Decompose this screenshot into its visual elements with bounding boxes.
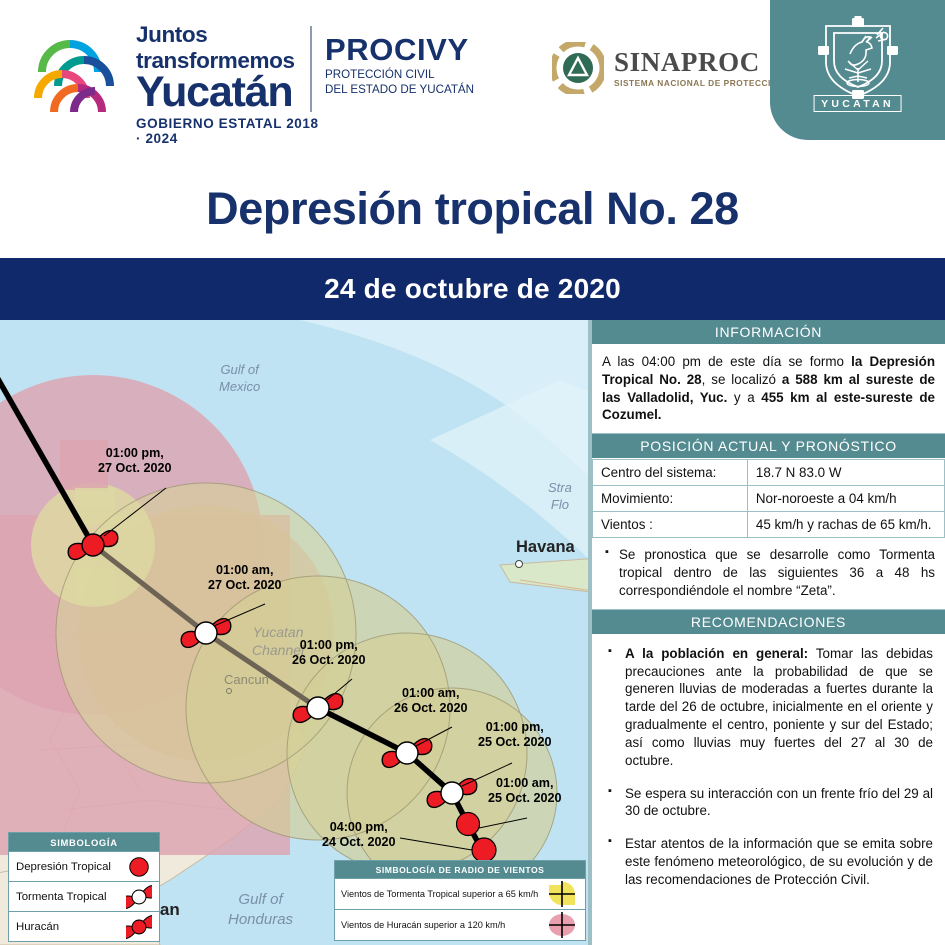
legend-row-tormenta: Tormenta Tropical	[9, 881, 159, 911]
map-label-havana: Havana	[516, 538, 575, 557]
info-panel: INFORMACIÓN A las 04:00 pm de este día s…	[588, 320, 945, 945]
procivy-subtitle: PROTECCIÓN CIVIL DEL ESTADO DE YUCATÁN	[325, 68, 474, 98]
tormenta-tropical-icon	[126, 884, 152, 910]
track-label-26-oct-am: 01:00 am,26 Oct. 2020	[394, 686, 468, 715]
yucatan-seal-word: YUCATAN	[813, 95, 902, 112]
procivy-sub-line1: PROTECCIÓN CIVIL	[325, 68, 474, 83]
radio-vientos-legend: SIMBOLOGÍA DE RADIO DE VIENTOS Vientos d…	[334, 860, 586, 941]
row-value-movimiento: Nor-noroeste a 04 km/h	[747, 486, 944, 512]
date-text: 24 de octubre de 2020	[324, 273, 621, 305]
table-row: Movimiento: Nor-noroeste a 04 km/h	[593, 486, 945, 512]
radio-row-huracan: Vientos de Huracán superior a 120 km/h	[335, 909, 585, 940]
header: Juntos transformemos Yucatán GOBIERNO ES…	[0, 0, 945, 160]
row-label-centro: Centro del sistema:	[593, 460, 748, 486]
sinaproc-emblem-icon	[552, 42, 604, 94]
legend-label-huracan: Huracán	[16, 921, 59, 933]
radio-vientos-header: SIMBOLOGÍA DE RADIO DE VIENTOS	[335, 861, 585, 878]
header-divider	[310, 26, 312, 112]
track-label-24-oct-pm: 04:00 pm,24 Oct. 2020	[322, 820, 396, 849]
city-dot-havana	[515, 560, 523, 568]
legend-row-huracan: Huracán	[9, 911, 159, 941]
huracan-icon	[126, 914, 152, 940]
logo-line-juntos: Juntos transformemos	[136, 22, 328, 74]
map-label-gulf-of-mexico: Gulf ofMexico	[219, 362, 260, 396]
track-label-27-oct-pm: 01:00 pm,27 Oct. 2020	[98, 446, 172, 475]
section-header-informacion: INFORMACIÓN	[592, 320, 945, 345]
infographic-page: Juntos transformemos Yucatán GOBIERNO ES…	[0, 0, 945, 945]
title-band: Depresión tropical No. 28	[0, 160, 945, 258]
radio-row-tormenta: Vientos de Tormenta Tropical superior a …	[335, 878, 585, 909]
simbologia-header: SIMBOLOGÍA	[9, 833, 159, 851]
wind-radius-hu-icon	[545, 911, 579, 939]
legend-label-tormenta: Tormenta Tropical	[16, 891, 107, 903]
informacion-paragraph: A las 04:00 pm de este día se formo la D…	[602, 353, 935, 424]
wind-radius-ts-icon	[545, 880, 579, 908]
city-dot-cancun	[226, 688, 232, 694]
yucatan-seal-panel: YUCATAN	[770, 0, 945, 140]
pronostico-note: Se pronostica que se desarrolle como Tor…	[604, 546, 935, 599]
recomendacion-item: Se espera su interacción con un frente f…	[606, 785, 933, 821]
map-label-gulf-of-honduras: Gulf ofHonduras	[228, 890, 293, 929]
row-label-vientos: Vientos :	[593, 512, 748, 538]
track-label-27-oct-am: 01:00 am,27 Oct. 2020	[208, 563, 282, 592]
procivy-title: PROCIVY	[325, 34, 474, 65]
informacion-body: A las 04:00 pm de este día se formo la D…	[592, 345, 945, 434]
radio-label-tormenta: Vientos de Tormenta Tropical superior a …	[341, 889, 538, 899]
row-value-centro: 18.7 N 83.0 W	[747, 460, 944, 486]
section-header-posicion: POSICIÓN ACTUAL Y PRONÓSTICO	[592, 434, 945, 459]
table-row: Centro del sistema: 18.7 N 83.0 W	[593, 460, 945, 486]
yucatan-logo-text: Juntos transformemos Yucatán GOBIERNO ES…	[136, 22, 328, 146]
pronostico-note-box: Se pronostica que se desarrolle como Tor…	[592, 538, 945, 609]
map-label-cancun: Cancun	[224, 672, 269, 687]
depresion-tropical-icon	[126, 855, 152, 879]
row-label-movimiento: Movimiento:	[593, 486, 748, 512]
table-row: Vientos : 45 km/h y rachas de 65 km/h.	[593, 512, 945, 538]
recomendacion-item: Estar atentos de la información que se e…	[606, 835, 933, 888]
recomendacion-item: A la población en general: Tomar las deb…	[606, 645, 933, 770]
row-value-vientos: 45 km/h y rachas de 65 km/h.	[747, 512, 944, 538]
legend-label-depresion: Depresión Tropical	[16, 861, 111, 873]
recomendaciones-body: A la población en general: Tomar las deb…	[592, 635, 945, 912]
procivy-sub-line2: DEL ESTADO DE YUCATÁN	[325, 83, 474, 98]
posicion-table: Centro del sistema: 18.7 N 83.0 W Movimi…	[592, 459, 945, 538]
yucatan-coat-of-arms-icon	[810, 16, 906, 102]
procivy-logo: PROCIVY PROTECCIÓN CIVIL DEL ESTADO DE Y…	[325, 34, 474, 98]
page-title: Depresión tropical No. 28	[206, 183, 739, 235]
radio-label-huracan: Vientos de Huracán superior a 120 km/h	[341, 920, 505, 930]
yucatan-government-logo: Juntos transformemos Yucatán GOBIERNO ES…	[28, 22, 328, 122]
simbologia-legend: SIMBOLOGÍA Depresión Tropical Tormenta T…	[8, 832, 160, 942]
legend-row-depresion: Depresión Tropical	[9, 851, 159, 881]
yucatan-rings-icon	[28, 26, 128, 122]
track-label-26-oct-pm: 01:00 pm,26 Oct. 2020	[292, 638, 366, 667]
track-label-25-oct-am: 01:00 am,25 Oct. 2020	[488, 776, 562, 805]
track-label-25-oct-pm: 01:00 pm,25 Oct. 2020	[478, 720, 552, 749]
logo-line-gobierno: GOBIERNO ESTATAL 2018 · 2024	[136, 116, 328, 146]
logo-line-yucatan: Yucatán	[136, 72, 328, 113]
map-label-straits-of-florida: StraFlo	[548, 480, 572, 514]
section-header-recomendaciones: RECOMENDACIONES	[592, 610, 945, 635]
date-band: 24 de octubre de 2020	[0, 258, 945, 320]
